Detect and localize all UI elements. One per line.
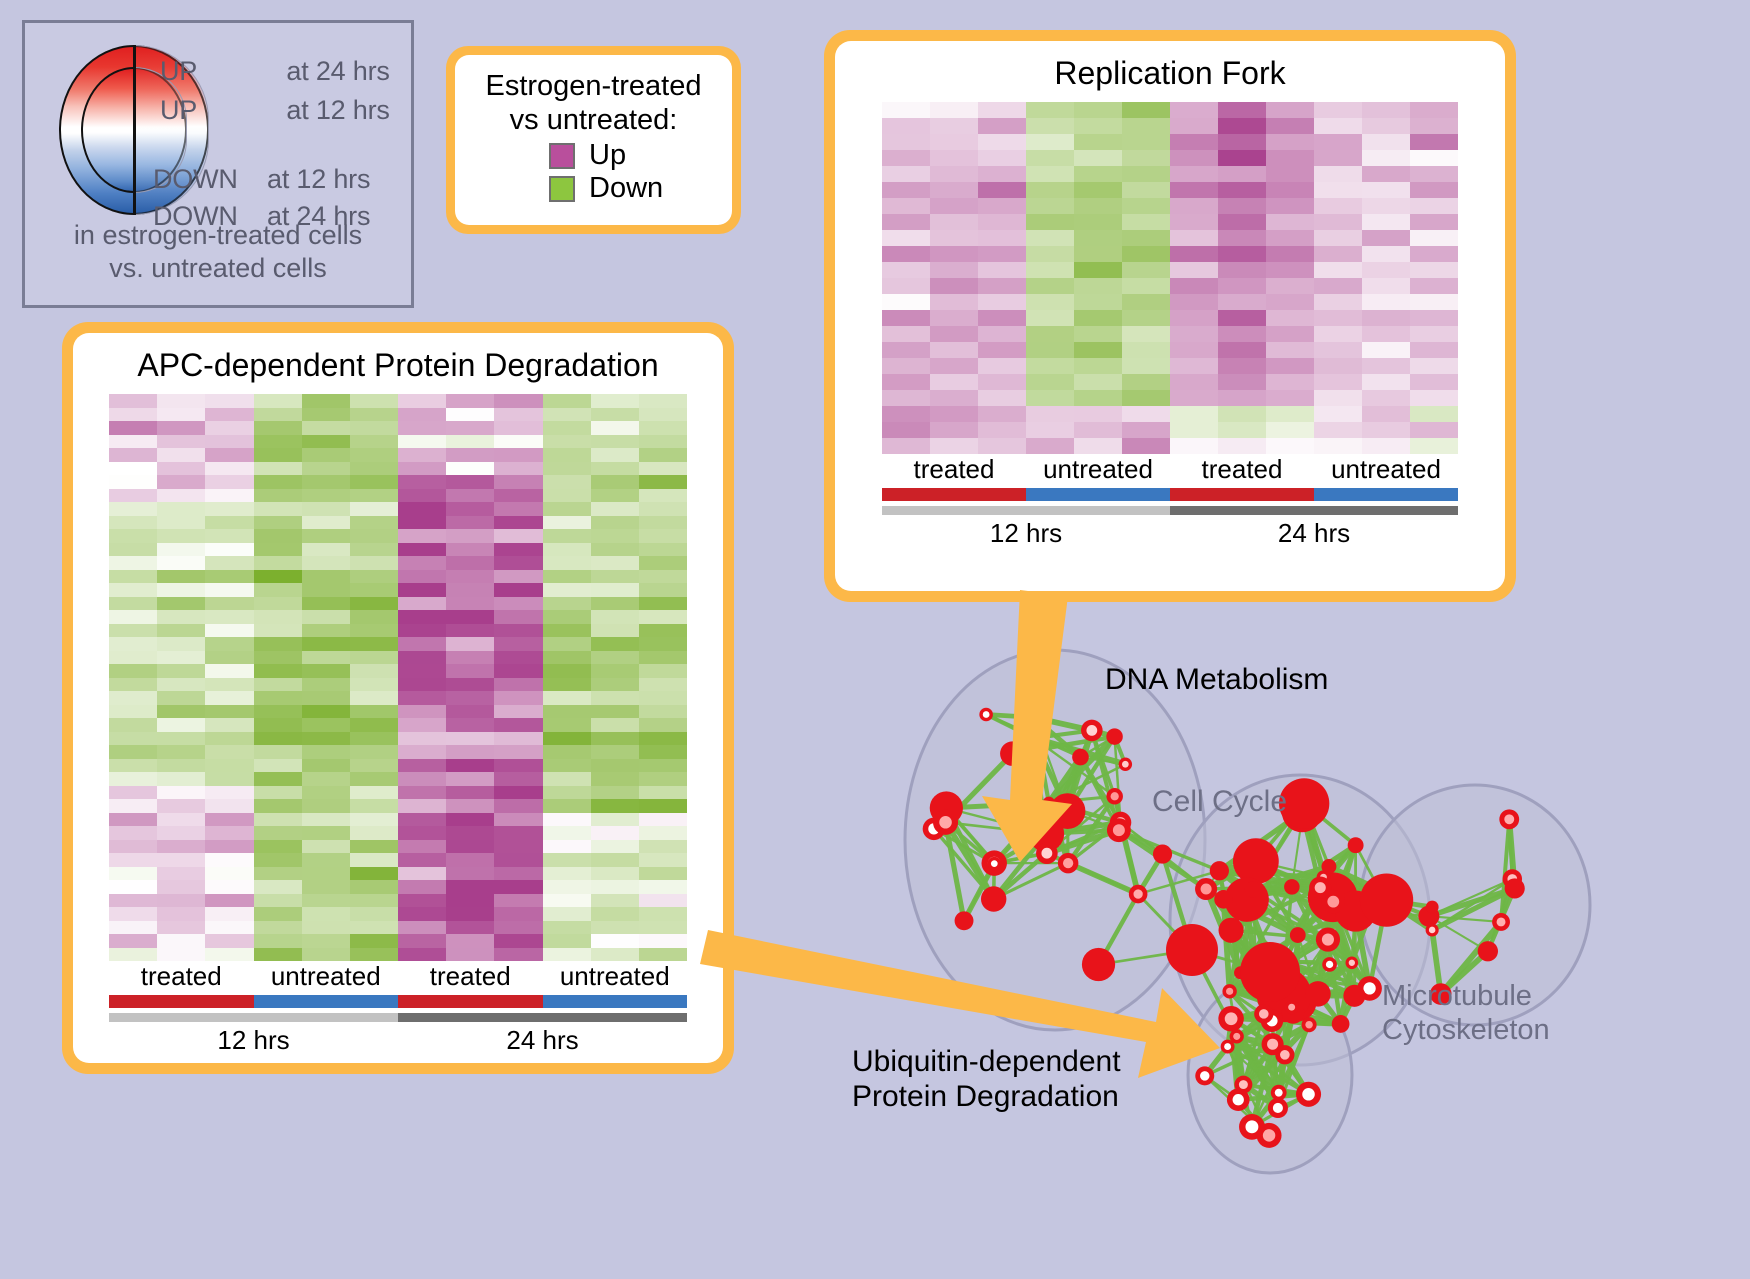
heatmap-cell (1218, 134, 1266, 150)
heatmap-cell (978, 358, 1026, 374)
heatmap-cell (446, 583, 494, 597)
down-swatch-label: Down (589, 174, 663, 203)
heatmap-cell (639, 394, 687, 408)
up-swatch-icon (549, 143, 575, 169)
apc-col-label-3: untreated (543, 961, 688, 992)
heatmap-cell (978, 374, 1026, 390)
heatmap-cell (350, 948, 398, 962)
heatmap-cell (1314, 358, 1362, 374)
heatmap-cell (1266, 390, 1314, 406)
heatmap-cell (254, 880, 302, 894)
heatmap-cell (930, 406, 978, 422)
network-node (1262, 1033, 1284, 1055)
network-node (1214, 890, 1233, 909)
heatmap-cell (1026, 390, 1074, 406)
heatmap-cell (882, 150, 930, 166)
heatmap-cell (302, 853, 350, 867)
heatmap-cell (446, 921, 494, 935)
heatmap-cell (350, 678, 398, 692)
heatmap-cell (398, 583, 446, 597)
heatmap-cell (398, 597, 446, 611)
heatmap-cell (639, 705, 687, 719)
heatmap-cell (543, 705, 591, 719)
heatmap-cell (1026, 310, 1074, 326)
heatmap-cell (254, 637, 302, 651)
heatmap-cell (302, 759, 350, 773)
heatmap-cell (1314, 166, 1362, 182)
heatmap-cell (543, 921, 591, 935)
heatmap-cell (978, 278, 1026, 294)
heatmap-cell (446, 489, 494, 503)
heatmap-cell (1218, 342, 1266, 358)
heatmap-cell (591, 610, 639, 624)
heatmap-cell (1170, 102, 1218, 118)
heatmap-cell (1362, 214, 1410, 230)
legend-row-up-12: UP at 12 hrs (160, 95, 390, 126)
heatmap-cell (398, 462, 446, 476)
heatmap-cell (350, 610, 398, 624)
heatmap-cell (978, 246, 1026, 262)
heatmap-cell (591, 651, 639, 665)
heatmap-cell (1026, 438, 1074, 454)
heatmap-cell (254, 651, 302, 665)
heatmap-cell (1410, 406, 1458, 422)
network-node (955, 911, 974, 930)
heatmap-cell (930, 246, 978, 262)
heatmap-cell (109, 732, 157, 746)
heatmap-cell (1314, 374, 1362, 390)
heatmap-cell (446, 462, 494, 476)
apc-time-bar-24 (398, 1013, 687, 1022)
panel-apc-dependent-protein-degradation: APC-dependent Protein Degradation treate… (62, 322, 734, 1074)
heatmap-cell (157, 759, 205, 773)
heatmap-cell (254, 948, 302, 962)
heatmap-cell (302, 691, 350, 705)
heatmap-cell (1266, 278, 1314, 294)
network-node (1302, 1017, 1317, 1032)
heatmap-cell (1314, 246, 1362, 262)
heatmap-cell (494, 651, 542, 665)
heatmap-cell (350, 691, 398, 705)
heatmap-cell (109, 556, 157, 570)
heatmap-cell (543, 948, 591, 962)
heatmap-cell (1026, 182, 1074, 198)
heatmap-cell (543, 435, 591, 449)
heatmap-cell (1314, 294, 1362, 310)
heatmap-cell (1074, 438, 1122, 454)
heatmap-cell (1362, 182, 1410, 198)
heatmap-cell (882, 198, 930, 214)
heatmap-cell (591, 691, 639, 705)
rf-time-bar-12 (882, 506, 1170, 515)
rf-time-bar (882, 506, 1458, 515)
heatmap-cell (1266, 118, 1314, 134)
heatmap-cell (591, 921, 639, 935)
heatmap-cell (494, 610, 542, 624)
heatmap-cell (205, 718, 253, 732)
rf-time-labels: 12 hrs 24 hrs (882, 518, 1458, 549)
heatmap-cell (1362, 246, 1410, 262)
heatmap-cell (1122, 198, 1170, 214)
heatmap-cell (205, 772, 253, 786)
heatmap-cell (1314, 278, 1362, 294)
heatmap-cell (157, 894, 205, 908)
heatmap-cell (446, 759, 494, 773)
heatmap-cell (1074, 278, 1122, 294)
heatmap-cell (930, 182, 978, 198)
heatmap-cell (882, 262, 930, 278)
heatmap-cell (1074, 102, 1122, 118)
heatmap-cell (591, 435, 639, 449)
heatmap-cell (446, 475, 494, 489)
heatmap-cell (109, 624, 157, 638)
heatmap-cell (109, 570, 157, 584)
heatmap-cell (1266, 102, 1314, 118)
heatmap-cell (494, 637, 542, 651)
heatmap-cell (591, 705, 639, 719)
heatmap-cell (591, 475, 639, 489)
heatmap-cell (639, 948, 687, 962)
heatmap-cell (109, 543, 157, 557)
network-node (1129, 885, 1148, 904)
heatmap-cell (1074, 294, 1122, 310)
replication-fork-footer: treated untreated treated untreated 12 h (882, 454, 1458, 549)
heatmap-cell (1314, 262, 1362, 278)
heatmap-cell (1266, 262, 1314, 278)
heatmap-cell (446, 853, 494, 867)
heatmap-cell (1122, 102, 1170, 118)
heatmap-cell (254, 597, 302, 611)
heatmap-cell (543, 408, 591, 422)
heatmap-cell (591, 772, 639, 786)
heatmap-cell (1410, 230, 1458, 246)
heatmap-cell (205, 610, 253, 624)
heatmap-cell (930, 198, 978, 214)
heatmap-cell (398, 826, 446, 840)
heatmap-cell (205, 597, 253, 611)
apc-time-labels: 12 hrs 24 hrs (109, 1025, 687, 1056)
heatmap-cell (254, 502, 302, 516)
heatmap-cell (254, 907, 302, 921)
heatmap-cell (494, 894, 542, 908)
network-node (1290, 927, 1306, 943)
heatmap-cell (639, 894, 687, 908)
legend-row-down-12: DOWN at 12 hrs (153, 164, 370, 195)
heatmap-cell (591, 489, 639, 503)
heatmap-cell (1218, 118, 1266, 134)
heatmap-cell (1074, 374, 1122, 390)
heatmap-cell (543, 529, 591, 543)
heatmap-cell (494, 624, 542, 638)
heatmap-cell (254, 853, 302, 867)
heatmap-cell (1170, 230, 1218, 246)
heatmap-cell (109, 786, 157, 800)
heatmap-cell (494, 745, 542, 759)
heatmap-cell (639, 853, 687, 867)
heatmap-cell (591, 799, 639, 813)
heatmap-cell (398, 610, 446, 624)
network-node (1343, 985, 1365, 1007)
heatmap-cell (302, 718, 350, 732)
heatmap-cell (205, 448, 253, 462)
network-node (1346, 956, 1359, 969)
heatmap-cell (109, 934, 157, 948)
heatmap-cell (109, 921, 157, 935)
heatmap-cell (1314, 214, 1362, 230)
heatmap-cell (1122, 150, 1170, 166)
heatmap-cell (157, 664, 205, 678)
heatmap-cell (543, 502, 591, 516)
heatmap-cell (1122, 118, 1170, 134)
heatmap-cell (543, 448, 591, 462)
heatmap-cell (157, 408, 205, 422)
heatmap-cell (639, 799, 687, 813)
heatmap-cell (1266, 438, 1314, 454)
heatmap-cell (1362, 150, 1410, 166)
heatmap-cell (543, 759, 591, 773)
heatmap-cell (398, 624, 446, 638)
heatmap-cell (398, 732, 446, 746)
replication-fork-inner: Replication Fork treated untreated treat… (835, 41, 1505, 591)
heatmap-cell (109, 394, 157, 408)
heatmap-cell (882, 214, 930, 230)
heatmap-cell (1170, 262, 1218, 278)
apc-bar-treated-12 (109, 995, 254, 1008)
heatmap-cell (350, 745, 398, 759)
heatmap-cell (446, 624, 494, 638)
heatmap-cell (1026, 198, 1074, 214)
heatmap-cell (157, 543, 205, 557)
heatmap-cell (494, 772, 542, 786)
heatmap-cell (205, 502, 253, 516)
heatmap-cell (157, 421, 205, 435)
heatmap-cell (350, 813, 398, 827)
rf-col-label-0: treated (882, 454, 1026, 485)
heatmap-cell (398, 475, 446, 489)
heatmap-cell (591, 394, 639, 408)
network-node (1360, 873, 1413, 926)
heatmap-cell (639, 664, 687, 678)
heatmap-cell (591, 732, 639, 746)
apc-footer: treated untreated treated untreated 12 h (109, 961, 687, 1056)
heatmap-cell (109, 894, 157, 908)
heatmap-cell (205, 759, 253, 773)
heatmap-cell (1218, 390, 1266, 406)
heatmap-cell (302, 448, 350, 462)
heatmap-cell (205, 907, 253, 921)
heatmap-cell (398, 907, 446, 921)
heatmap-cell (350, 448, 398, 462)
heatmap-cell (930, 150, 978, 166)
heatmap-cell (1170, 166, 1218, 182)
heatmap-cell (978, 326, 1026, 342)
heatmap-cell (205, 664, 253, 678)
heatmap-cell (591, 934, 639, 948)
heatmap-cell (494, 840, 542, 854)
heatmap-cell (1170, 278, 1218, 294)
heatmap-cell (398, 853, 446, 867)
heatmap-cell (302, 556, 350, 570)
heatmap-cell (591, 745, 639, 759)
heatmap-cell (398, 516, 446, 530)
heatmap-cell (1074, 182, 1122, 198)
heatmap-cell (109, 813, 157, 827)
apc-col-label-1: untreated (254, 961, 399, 992)
network-node (1426, 923, 1439, 936)
heatmap-cell (978, 134, 1026, 150)
heatmap-cell (205, 529, 253, 543)
heatmap-cell (109, 610, 157, 624)
heatmap-cell (1074, 166, 1122, 182)
heatmap-cell (446, 813, 494, 827)
heatmap-cell (254, 826, 302, 840)
up-swatch-label: Up (589, 141, 626, 170)
heatmap-cell (591, 637, 639, 651)
apc-treatment-bar (109, 995, 687, 1008)
heatmap-cell (1314, 198, 1362, 214)
heatmap-cell (591, 867, 639, 881)
heatmap-cell (205, 786, 253, 800)
heatmap-cell (1362, 278, 1410, 294)
heatmap-cell (157, 529, 205, 543)
heatmap-cell (1122, 294, 1170, 310)
gradient-legend-caption: in estrogen-treated cells vs. untreated … (25, 219, 411, 285)
heatmap-cell (446, 745, 494, 759)
heatmap-cell (109, 880, 157, 894)
heatmap-cell (254, 435, 302, 449)
heatmap-cell (882, 406, 930, 422)
heatmap-cell (494, 516, 542, 530)
heatmap-cell (639, 678, 687, 692)
heatmap-cell (882, 294, 930, 310)
heatmap-cell (157, 475, 205, 489)
heatmap-cell (398, 759, 446, 773)
heatmap-cell (254, 745, 302, 759)
heatmap-cell (157, 610, 205, 624)
heatmap-cell (930, 422, 978, 438)
heatmap-cell (109, 759, 157, 773)
heatmap-cell (882, 166, 930, 182)
heatmap-cell (350, 921, 398, 935)
heatmap-cell (1122, 326, 1170, 342)
heatmap-cell (882, 118, 930, 134)
heatmap-cell (350, 934, 398, 948)
heatmap-cell (157, 853, 205, 867)
heatmap-cell (494, 543, 542, 557)
heatmap-cell (494, 718, 542, 732)
heatmap-cell (350, 718, 398, 732)
rf-col-label-2: treated (1170, 454, 1314, 485)
heatmap-cell (1266, 358, 1314, 374)
heatmap-cell (350, 664, 398, 678)
heatmap-cell (639, 597, 687, 611)
heatmap-cell (254, 813, 302, 827)
heatmap-cell (157, 462, 205, 476)
heatmap-cell (254, 421, 302, 435)
heatmap-cell (543, 651, 591, 665)
heatmap-cell (254, 583, 302, 597)
heatmap-cell (639, 813, 687, 827)
heatmap-cell (494, 867, 542, 881)
heatmap-cell (1122, 230, 1170, 246)
heatmap-cell (157, 840, 205, 854)
heatmap-cell (1266, 294, 1314, 310)
network-node (1499, 809, 1519, 829)
heatmap-cell (1362, 118, 1410, 134)
heatmap-cell (350, 705, 398, 719)
heatmap-cell (398, 556, 446, 570)
estrogen-title-line-2: vs untreated: (463, 103, 724, 137)
heatmap-cell (1218, 358, 1266, 374)
heatmap-cell (398, 948, 446, 962)
arrow-replication-fork-to-dna-metabolism (960, 590, 1140, 870)
heatmap-cell (109, 475, 157, 489)
heatmap-cell (446, 732, 494, 746)
heatmap-cell (157, 786, 205, 800)
heatmap-cell (543, 799, 591, 813)
heatmap-cell (1266, 326, 1314, 342)
heatmap-cell (882, 358, 930, 374)
rf-time-label-12: 12 hrs (882, 518, 1170, 549)
heatmap-cell (350, 853, 398, 867)
heatmap-cell (591, 529, 639, 543)
network-node (1233, 838, 1279, 884)
caption-line-2: vs. untreated cells (25, 252, 411, 285)
network-node (1305, 981, 1330, 1006)
heatmap-cell (494, 799, 542, 813)
heatmap-cell (205, 705, 253, 719)
heatmap-cell (882, 310, 930, 326)
heatmap-cell (1026, 406, 1074, 422)
heatmap-cell (930, 342, 978, 358)
heatmap-cell (1026, 150, 1074, 166)
heatmap-cell (882, 422, 930, 438)
heatmap-cell (302, 529, 350, 543)
heatmap-cell (1074, 342, 1122, 358)
heatmap-cell (205, 421, 253, 435)
heatmap-cell (639, 421, 687, 435)
heatmap-cell (978, 438, 1026, 454)
heatmap-cell (109, 448, 157, 462)
heatmap-cell (543, 934, 591, 948)
heatmap-cell (109, 435, 157, 449)
heatmap-cell (254, 543, 302, 557)
heatmap-cell (1266, 182, 1314, 198)
heatmap-cell (1410, 358, 1458, 374)
heatmap-cell (109, 651, 157, 665)
heatmap-cell (254, 786, 302, 800)
heatmap-cell (1314, 422, 1362, 438)
heatmap-cell (591, 894, 639, 908)
heatmap-cell (591, 880, 639, 894)
heatmap-cell (1362, 102, 1410, 118)
heatmap-cell (1362, 294, 1410, 310)
heatmap-cell (109, 408, 157, 422)
heatmap-cell (978, 342, 1026, 358)
heatmap-cell (930, 118, 978, 134)
heatmap-cell (930, 134, 978, 150)
heatmap-cell (1218, 374, 1266, 390)
heatmap-cell (350, 880, 398, 894)
heatmap-cell (350, 732, 398, 746)
heatmap-cell (543, 867, 591, 881)
heatmap-cell (591, 448, 639, 462)
heatmap-cell (254, 799, 302, 813)
heatmap-cell (1410, 278, 1458, 294)
heatmap-cell (1170, 342, 1218, 358)
heatmap-cell (1266, 246, 1314, 262)
heatmap-cell (1314, 230, 1362, 246)
